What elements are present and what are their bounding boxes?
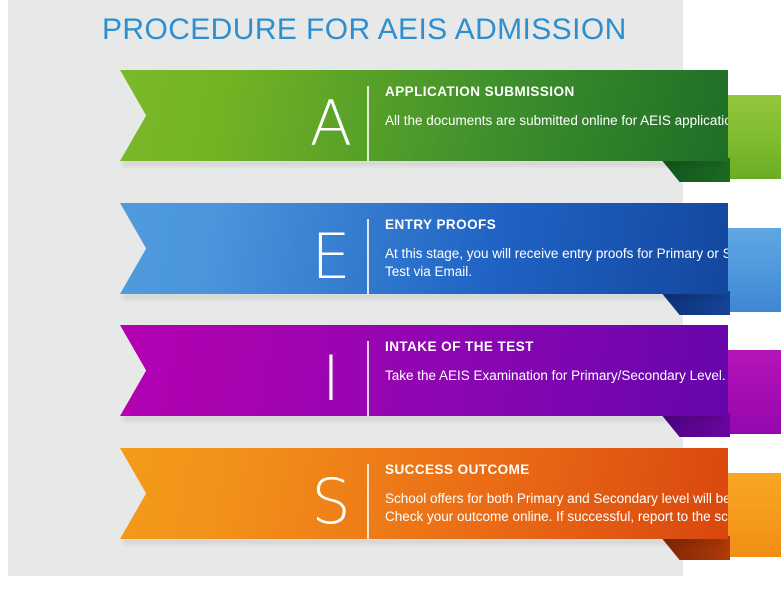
step-letter: E <box>298 215 364 299</box>
step-title: SUCCESS OUTCOME <box>385 462 781 477</box>
step-title: ENTRY PROOFS <box>385 217 781 232</box>
vertical-divider <box>367 464 369 540</box>
ribbon-body: I INTAKE OF THE TEST Take the AEIS Exami… <box>120 325 728 416</box>
vertical-divider <box>367 86 369 162</box>
step-ribbon-entry-proofs: E ENTRY PROOFS At this stage, you will r… <box>0 195 781 325</box>
step-ribbon-application-submission: A APPLICATION SUBMISSION All the documen… <box>0 62 781 192</box>
step-description: All the documents are submitted online f… <box>385 112 781 130</box>
step-copy: SUCCESS OUTCOME School offers for both P… <box>385 462 781 526</box>
ribbon-body: S SUCCESS OUTCOME School offers for both… <box>120 448 728 539</box>
ribbon-tail <box>727 228 781 312</box>
ribbon-drop-shadow <box>123 294 723 299</box>
step-letter: A <box>298 82 364 166</box>
infographic-canvas: PROCEDURE FOR AEIS ADMISSION A APPLICATI… <box>0 0 781 608</box>
ribbon-tail <box>727 95 781 179</box>
step-description: At this stage, you will receive entry pr… <box>385 245 781 281</box>
step-copy: INTAKE OF THE TEST Take the AEIS Examina… <box>385 339 781 385</box>
step-title: APPLICATION SUBMISSION <box>385 84 781 99</box>
ribbon-drop-shadow <box>123 416 723 421</box>
step-title: INTAKE OF THE TEST <box>385 339 781 354</box>
ribbon-body: A APPLICATION SUBMISSION All the documen… <box>120 70 728 161</box>
ribbon-drop-shadow <box>123 539 723 544</box>
step-ribbon-success-outcome: S SUCCESS OUTCOME School offers for both… <box>0 440 781 570</box>
ribbon-body: E ENTRY PROOFS At this stage, you will r… <box>120 203 728 294</box>
step-copy: APPLICATION SUBMISSION All the documents… <box>385 84 781 130</box>
step-description: Take the AEIS Examination for Primary/Se… <box>385 367 781 385</box>
ribbon-tail <box>727 473 781 557</box>
step-letter: I <box>298 337 364 421</box>
ribbon-tail <box>727 350 781 434</box>
step-letter: S <box>298 460 364 544</box>
step-description: School offers for both Primary and Secon… <box>385 490 781 526</box>
page-title: PROCEDURE FOR AEIS ADMISSION <box>102 13 627 47</box>
vertical-divider <box>367 341 369 417</box>
step-copy: ENTRY PROOFS At this stage, you will rec… <box>385 217 781 281</box>
ribbon-drop-shadow <box>123 161 723 166</box>
step-ribbon-intake-of-the-test: I INTAKE OF THE TEST Take the AEIS Exami… <box>0 317 781 447</box>
vertical-divider <box>367 219 369 295</box>
